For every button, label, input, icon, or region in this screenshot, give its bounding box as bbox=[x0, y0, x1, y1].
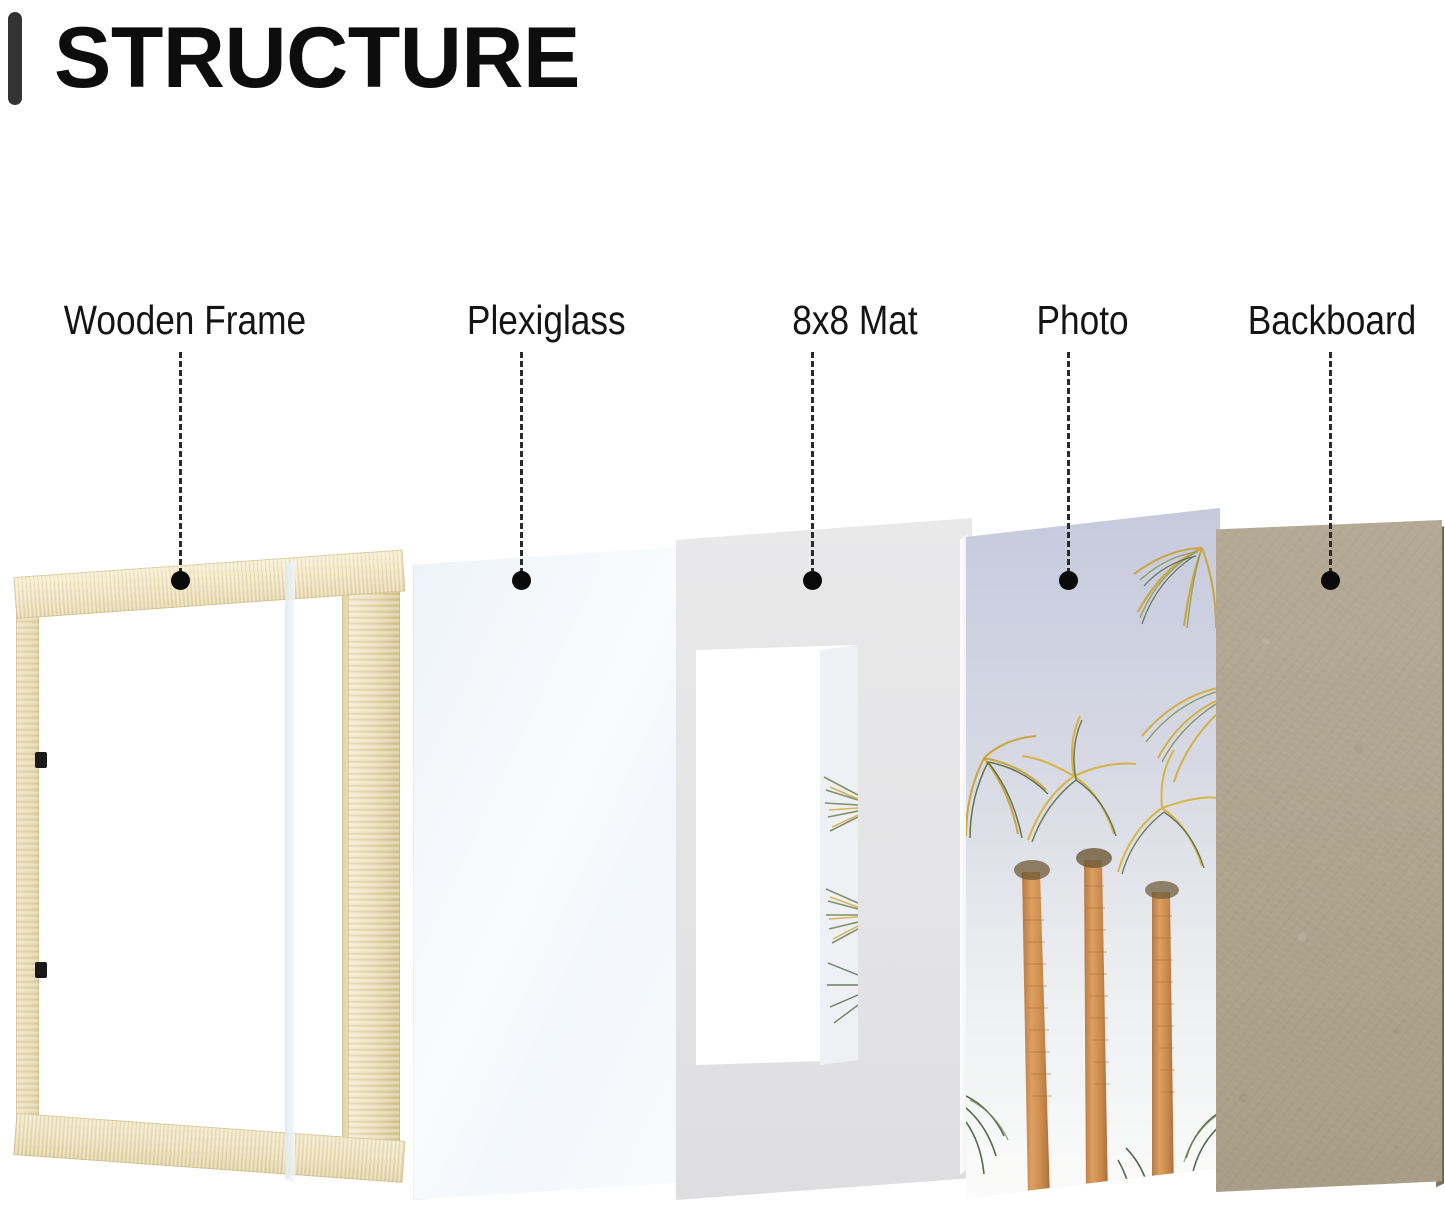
callout-label-plexiglass: Plexiglass bbox=[467, 296, 626, 344]
layer-wooden-frame bbox=[8, 525, 408, 1215]
layer-photo bbox=[966, 508, 1220, 1198]
frame-clip-icon bbox=[35, 962, 47, 978]
callout-label-mat: 8x8 Mat bbox=[792, 296, 917, 344]
leader-line-mat bbox=[811, 352, 814, 574]
exploded-assembly-diagram bbox=[0, 0, 1445, 1216]
layer-plexiglass bbox=[413, 545, 713, 1200]
leader-dot-wooden-frame bbox=[171, 571, 190, 590]
callout-label-photo: Photo bbox=[1036, 296, 1128, 344]
mat-window-photo-glimpse bbox=[820, 645, 858, 1065]
callout-label-wooden-frame: Wooden Frame bbox=[64, 296, 306, 344]
plexiglass-edge bbox=[285, 546, 295, 1198]
leader-line-plexiglass bbox=[520, 352, 523, 574]
backboard-fiber-texture bbox=[1216, 520, 1442, 1192]
leader-dot-plexiglass bbox=[512, 571, 531, 590]
layer-backboard bbox=[1216, 520, 1442, 1192]
plexiglass-sheen bbox=[413, 545, 713, 1200]
leader-line-backboard bbox=[1329, 352, 1332, 574]
palm-trees-photograph bbox=[966, 508, 1220, 1198]
palm-frond-icon bbox=[820, 645, 858, 1065]
frame-clip-icon bbox=[35, 752, 47, 768]
frame-left-stile bbox=[16, 597, 39, 1145]
frame-opening bbox=[46, 613, 346, 1133]
leader-dot-photo bbox=[1059, 571, 1078, 590]
leader-line-wooden-frame bbox=[179, 352, 182, 574]
leader-dot-backboard bbox=[1321, 571, 1340, 590]
leader-line-photo bbox=[1067, 352, 1070, 574]
callout-label-backboard: Backboard bbox=[1247, 296, 1416, 344]
leader-dot-mat bbox=[803, 571, 822, 590]
frame-right-stile bbox=[348, 563, 400, 1163]
